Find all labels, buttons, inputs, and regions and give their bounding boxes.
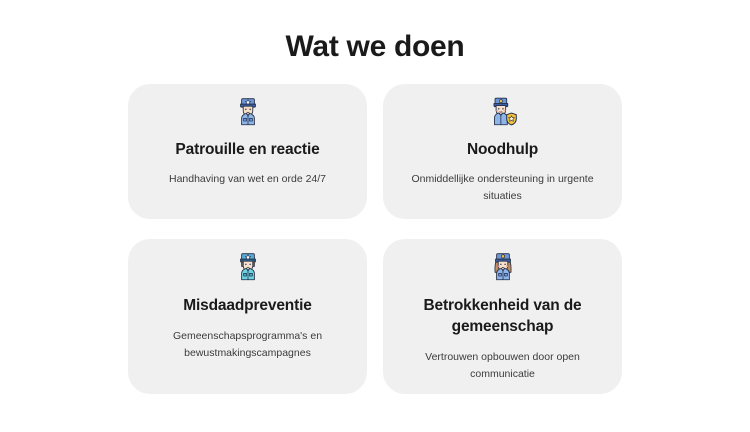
service-card-title: Betrokkenheid van de gemeenschap: [397, 296, 608, 338]
service-card-title: Misdaadpreventie: [183, 296, 312, 317]
service-card-patrol[interactable]: Patrouille en reactie Handhaving van wet…: [128, 84, 367, 219]
service-card-description: Gemeenschapsprogramma's en bewustmakings…: [145, 328, 350, 362]
police-officer-teal-icon: [231, 250, 265, 284]
page-root: Wat we doen: [0, 0, 750, 432]
service-card-description: Vertrouwen opbouwen door open communicat…: [400, 349, 605, 383]
service-card-title: Noodhulp: [467, 140, 538, 161]
police-officer-with-shield-icon: [486, 95, 520, 129]
police-officer-icon: [231, 95, 265, 129]
service-card-emergency[interactable]: Noodhulp Onmiddellijke ondersteuning in …: [383, 84, 622, 219]
service-card-community[interactable]: Betrokkenheid van de gemeenschap Vertrou…: [383, 239, 622, 394]
service-card-description: Handhaving van wet en orde 24/7: [169, 171, 326, 188]
female-police-officer-icon: [486, 250, 520, 284]
service-card-description: Onmiddellijke ondersteuning in urgente s…: [400, 171, 605, 205]
page-title: Wat we doen: [0, 0, 750, 65]
service-card-title: Patrouille en reactie: [175, 140, 319, 161]
services-grid: Patrouille en reactie Handhaving van wet…: [128, 65, 622, 394]
service-card-crime-prevention[interactable]: Misdaadpreventie Gemeenschapsprogramma's…: [128, 239, 367, 394]
